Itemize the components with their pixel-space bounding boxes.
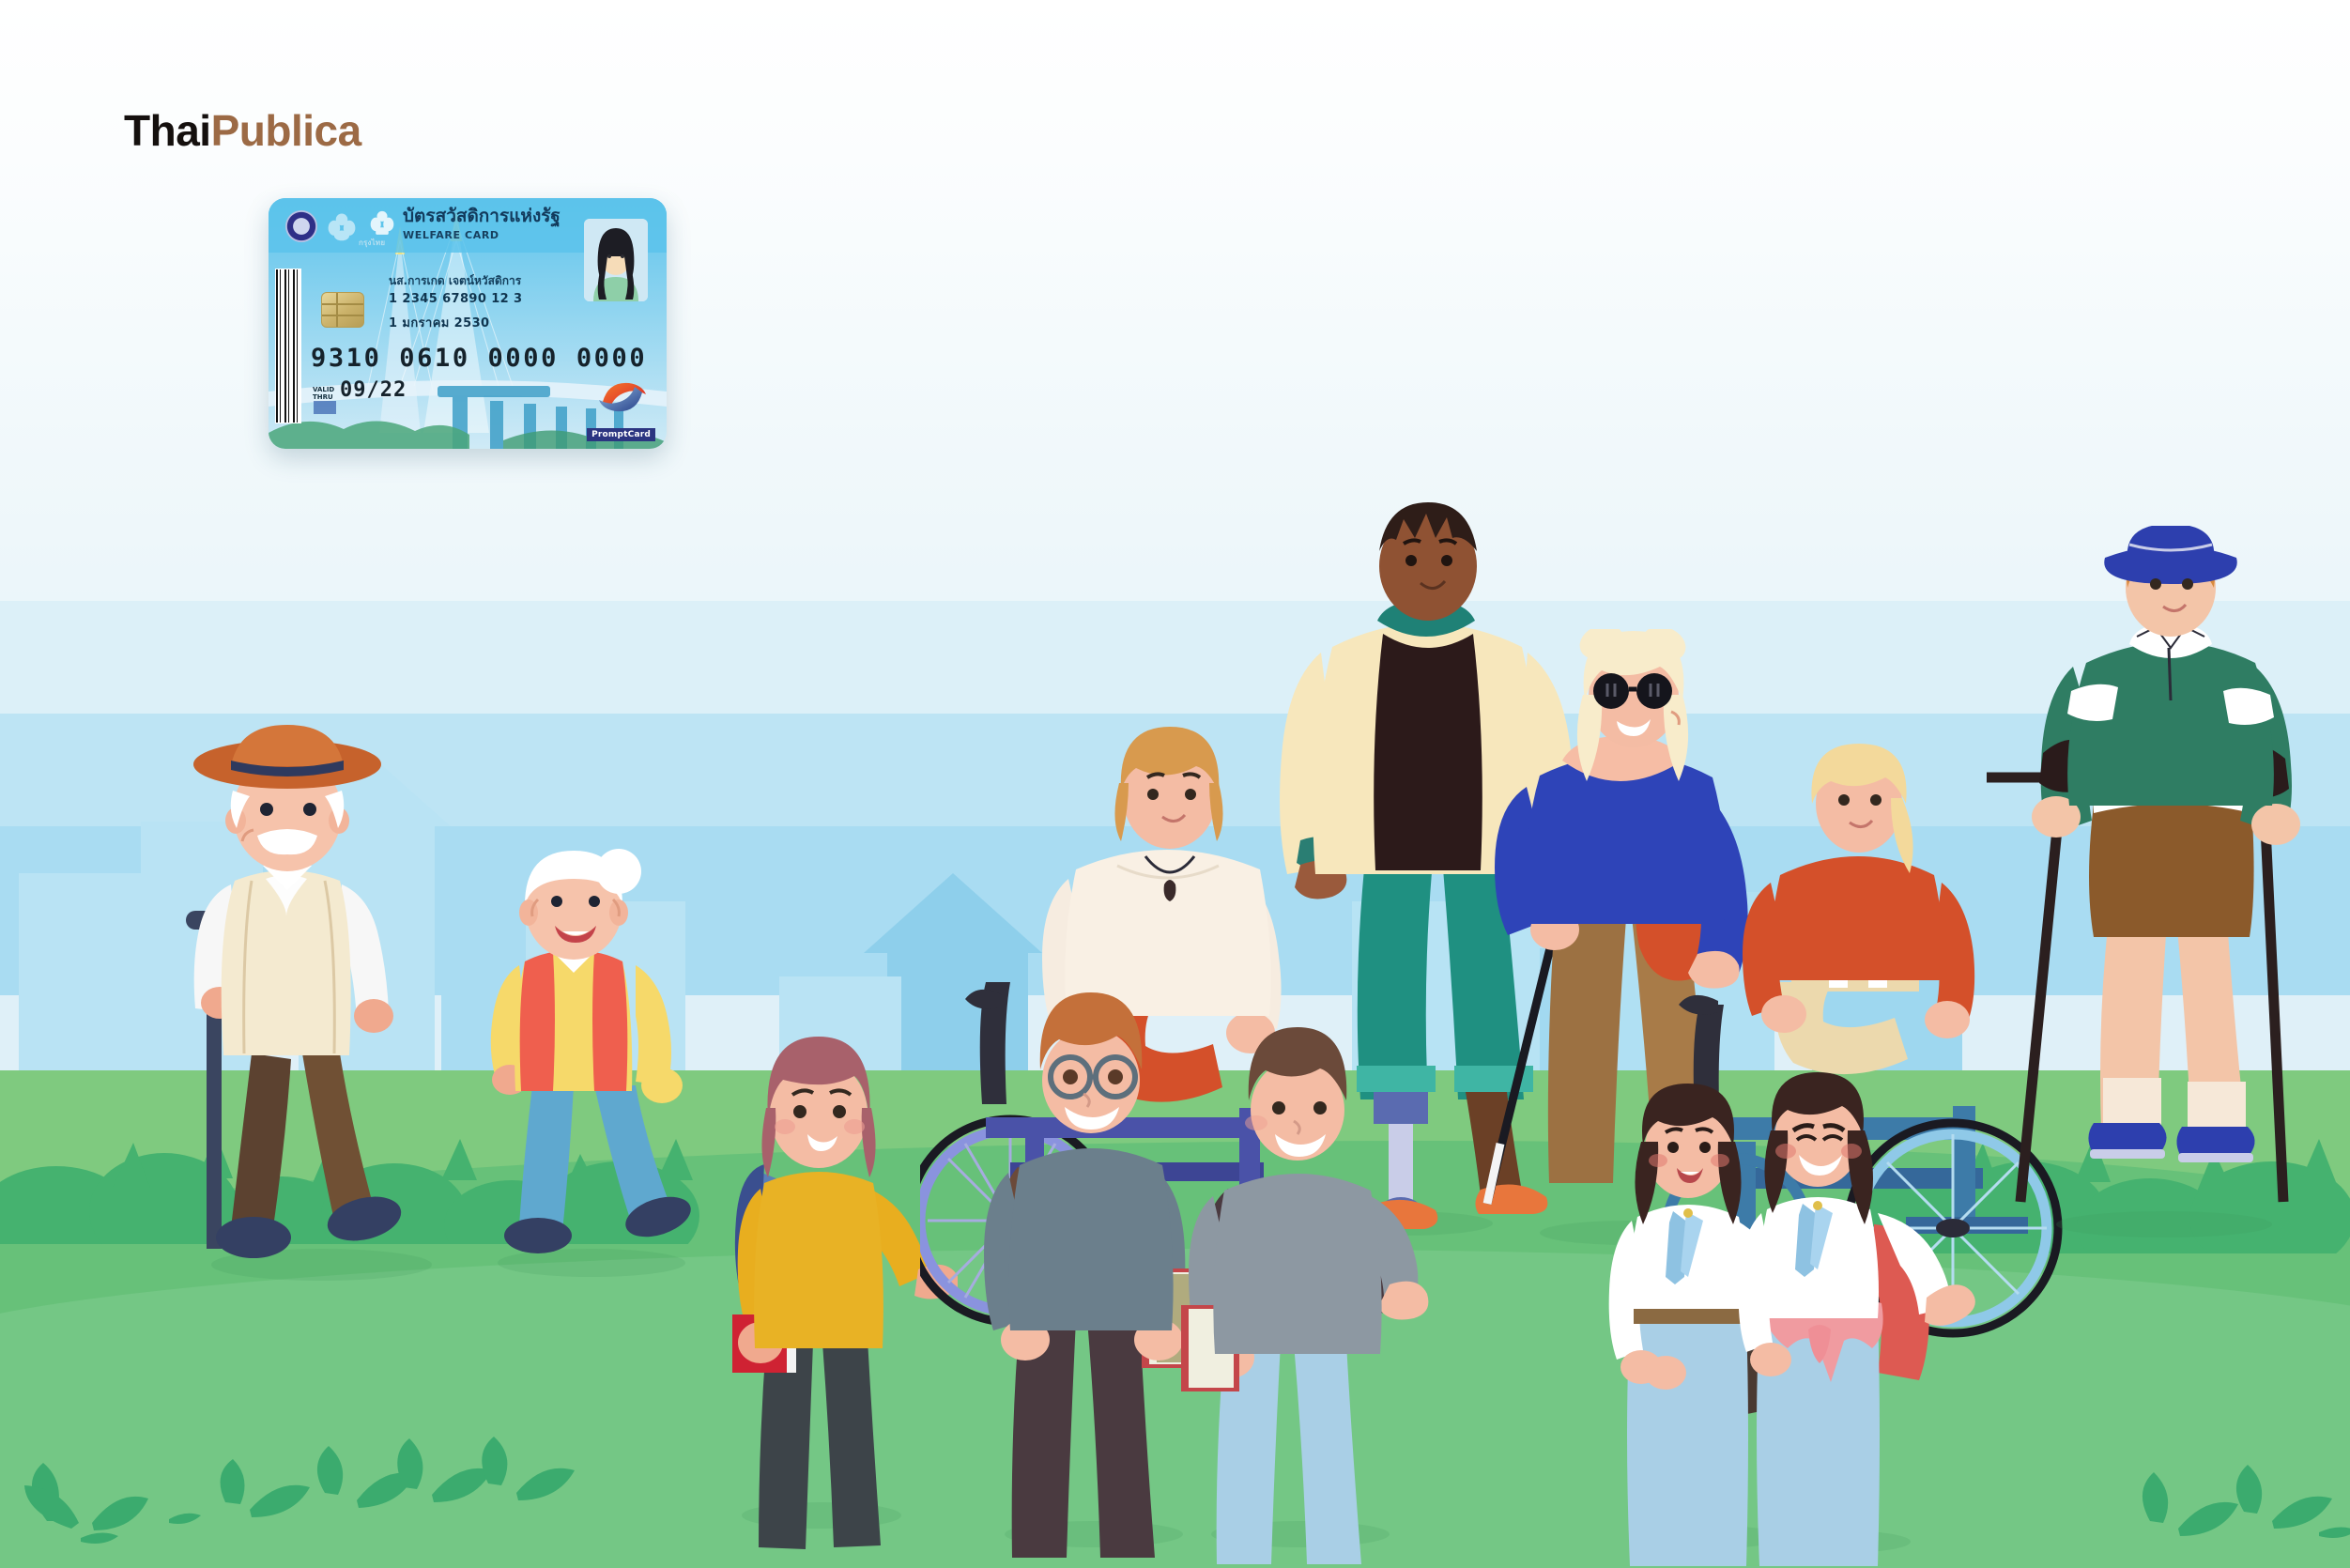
card-network-label: PromptCard [587, 428, 655, 441]
card-valid-thru-label: VALID THRU [313, 386, 337, 401]
person-student-boy-waving [1155, 1023, 1455, 1568]
card-valid-thru-value: 09/22 [340, 378, 407, 402]
illustration-canvas: ThaiPublica [0, 0, 2350, 1568]
card-holder-photo [584, 219, 648, 301]
krungthai-bank-icon [366, 208, 398, 239]
foreground-leaves-left [0, 1390, 591, 1568]
person-crutches-man [1953, 526, 2350, 1221]
card-birth-date: 1 มกราคม 2530 [389, 313, 489, 332]
welfare-card[interactable]: กรุงไทย บัตรสวัสดิการแห่งรัฐ WELFARE CAR… [269, 198, 667, 449]
card-bank-label: กรุงไทย [359, 237, 385, 249]
card-chip-icon [321, 292, 364, 328]
foreground-leaves-right [2112, 1408, 2350, 1568]
brand-logo-part1: Thai [124, 106, 211, 155]
person-schoolgirl-right [1728, 1070, 2009, 1568]
person-elderly-man [141, 723, 432, 1268]
card-holder-name: นส.การเกด เจตน์หวัสดิการ [389, 272, 521, 290]
government-seal-icon [285, 210, 317, 242]
brand-logo[interactable]: ThaiPublica [124, 105, 361, 156]
krungthai-emblem-icon [325, 209, 359, 243]
card-barcode [275, 269, 301, 423]
card-citizen-id: 1 2345 67890 12 3 [389, 292, 523, 306]
person-elderly-woman [474, 845, 718, 1268]
card-number: 9310 0610 0000 0000 [311, 344, 647, 373]
card-title-thai: บัตรสวัสดิการแห่งรัฐ [403, 208, 561, 225]
card-title-english: WELFARE CARD [403, 229, 499, 241]
brand-logo-part2: Publica [211, 106, 361, 155]
promptcard-swoosh-icon [595, 377, 650, 417]
